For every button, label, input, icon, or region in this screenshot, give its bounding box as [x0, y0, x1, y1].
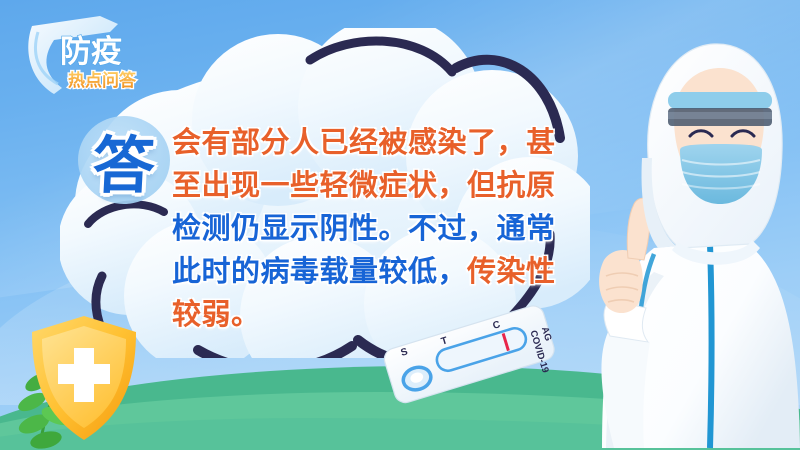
answer-line-3: 检测仍显示阴性。不过，通常 — [172, 208, 572, 251]
medical-worker-illustration — [592, 8, 800, 450]
answer-line-1-seg-1: 会有部分人已经被感染了，甚 — [172, 127, 556, 159]
covid-antigen-test-kit: S T C COVID-19 AG — [376, 300, 566, 420]
answer-line-4-seg-2: 传染性 — [467, 256, 556, 288]
answer-line-2-seg-1: 至出现一些轻微症状，但抗原 — [172, 170, 556, 202]
answer-badge: 答 — [72, 112, 176, 208]
medical-shield-icon — [18, 306, 150, 450]
poster-canvas: 防疫 热点问答 答 会有部分人已经被感染了，甚 至出现一些轻微症状，但抗原 检测… — [0, 0, 800, 450]
face-shield-band — [668, 92, 772, 109]
answer-line-4: 此时的病毒载量较低，传染性 — [172, 251, 572, 294]
answer-line-3-seg-1: 检测仍显示阴性。不过，通常 — [172, 213, 556, 245]
answer-badge-char: 答 — [69, 112, 178, 208]
answer-line-1: 会有部分人已经被感染了，甚 — [172, 122, 572, 165]
logo-main-text: 防疫 — [60, 34, 122, 69]
answer-line-5-seg-1: 较弱。 — [172, 299, 261, 331]
fangyi-logo: 防疫 热点问答 — [14, 12, 174, 98]
suit-zipper — [710, 244, 712, 448]
logo-sub-text: 热点问答 — [68, 70, 137, 90]
answer-line-4-seg-1: 此时的病毒载量较低， — [172, 256, 467, 288]
answer-line-2: 至出现一些轻微症状，但抗原 — [172, 165, 572, 208]
